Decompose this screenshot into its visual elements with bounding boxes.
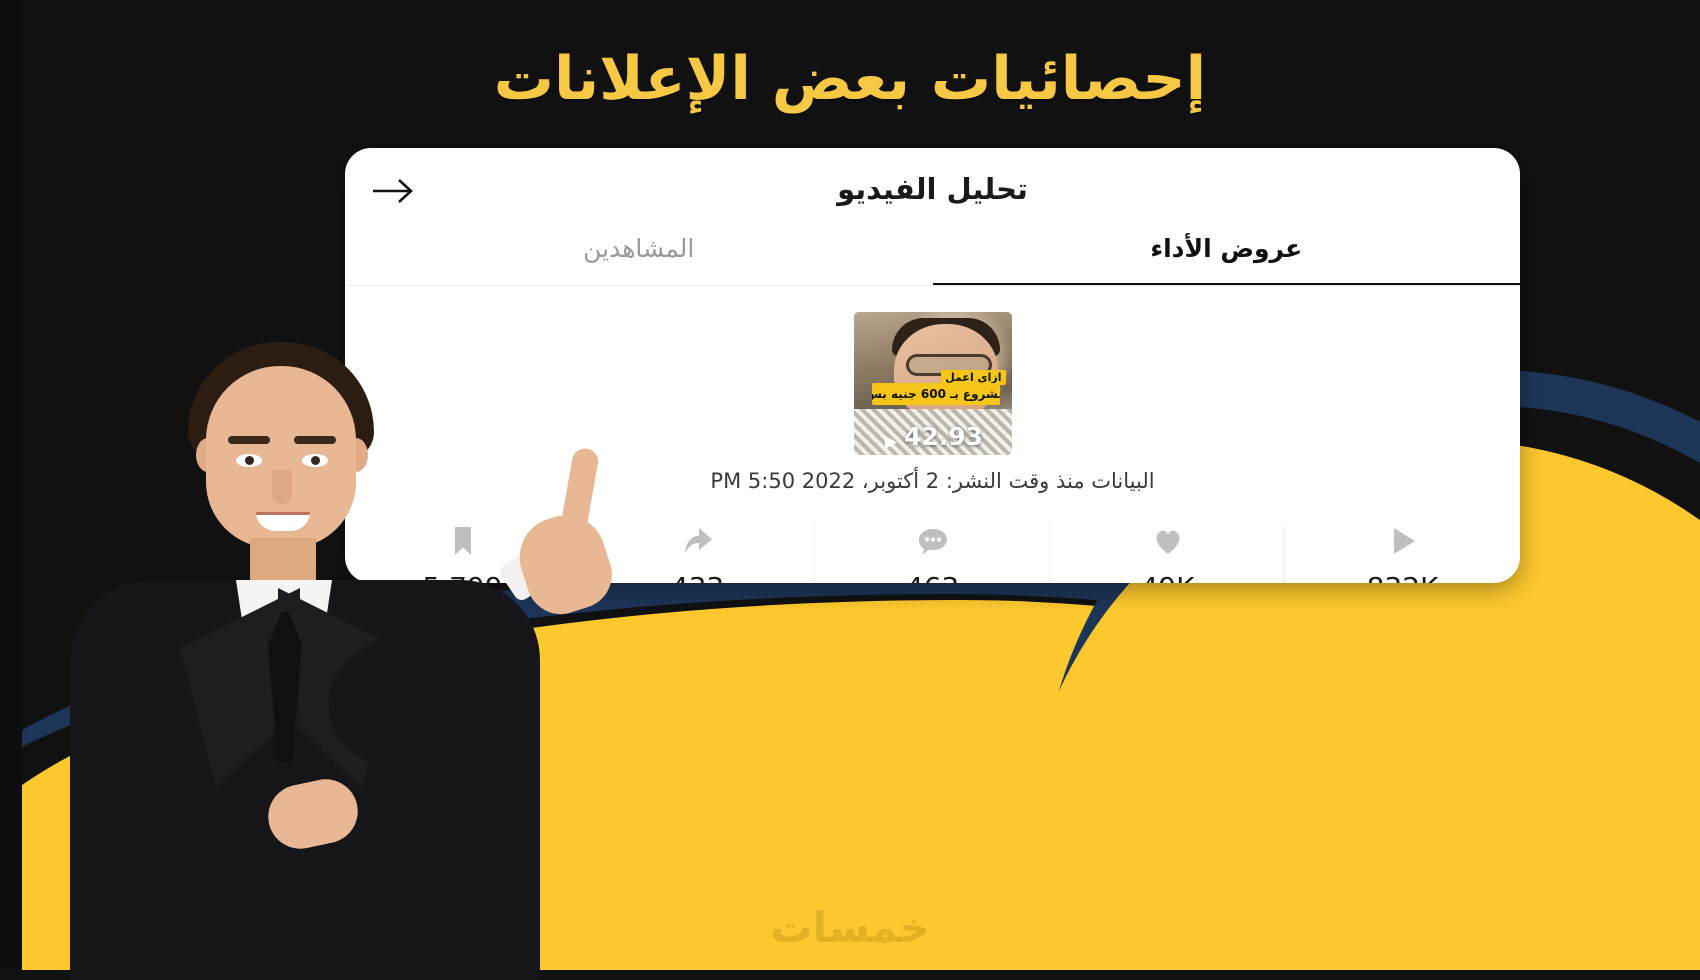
thumbnail-banner-text: مشروع بـ 600 جنيه بس xyxy=(872,383,1000,405)
analytics-tabs: عروض الأداء المشاهدين xyxy=(345,230,1520,286)
stat-plays-value: 832K xyxy=(1285,571,1520,583)
stat-comments[interactable]: 463 xyxy=(815,519,1050,583)
play-icon xyxy=(1285,519,1520,563)
presenter-photo xyxy=(10,330,610,970)
watermark: خمسات xyxy=(0,903,1700,952)
stat-likes[interactable]: 49K xyxy=(1050,519,1285,583)
tab-performance[interactable]: عروض الأداء xyxy=(933,230,1521,286)
stat-plays[interactable]: 832K xyxy=(1285,519,1520,583)
tab-viewers[interactable]: المشاهدين xyxy=(345,230,933,286)
presenter-brow-left xyxy=(228,436,270,444)
presenter-nose xyxy=(272,470,292,504)
tab-viewers-label: المشاهدين xyxy=(583,234,694,263)
presenter-brow-right xyxy=(294,436,336,444)
stat-comments-value: 463 xyxy=(815,571,1050,583)
stat-shares[interactable]: 433 xyxy=(580,519,815,583)
thumbnail-view-count: 42.93 xyxy=(854,422,1012,451)
heart-icon xyxy=(1050,519,1285,563)
video-thumbnail[interactable]: ازاي اعمل مشروع بـ 600 جنيه بس 42.93 xyxy=(854,312,1012,455)
thumbnail-view-count-value: 42.93 xyxy=(904,422,983,451)
play-icon xyxy=(882,428,899,445)
share-arrow-icon xyxy=(580,519,815,563)
stat-likes-value: 49K xyxy=(1050,571,1285,583)
card-header-title: تحليل الفيديو xyxy=(345,172,1520,206)
stat-shares-value: 433 xyxy=(580,571,815,583)
card-header: تحليل الفيديو xyxy=(345,148,1520,230)
presenter-pupil-right xyxy=(311,456,320,465)
arrow-right-icon[interactable] xyxy=(371,174,415,208)
presenter-pupil-left xyxy=(245,456,254,465)
tab-performance-label: عروض الأداء xyxy=(1150,234,1302,263)
page-title: إحصائيات بعض الإعلانات xyxy=(0,44,1700,114)
comment-icon xyxy=(815,519,1050,563)
